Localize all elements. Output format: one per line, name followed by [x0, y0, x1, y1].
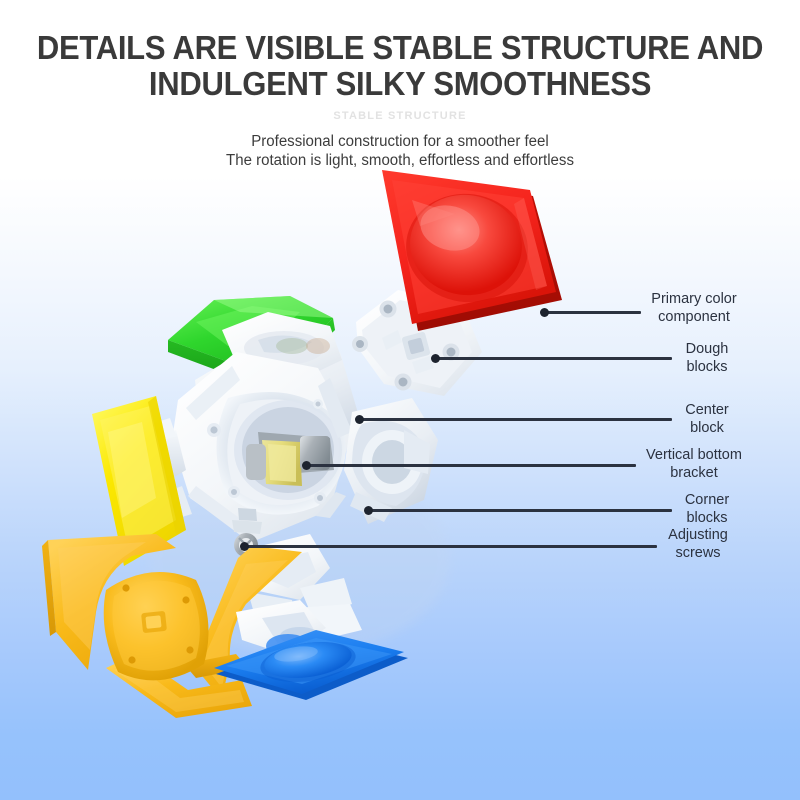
callout-line-2: bracket — [670, 465, 718, 481]
leader-line-corner-blocks — [367, 509, 672, 512]
callout-primary-color-component: Primary color component — [644, 291, 744, 326]
callout-line-1: Dough — [686, 341, 729, 357]
callout-line-1: Corner — [685, 492, 729, 508]
callout-annotations: Primary color component Dough blocks Cen… — [0, 0, 800, 800]
leader-line-adjusting-screws — [243, 545, 657, 548]
callout-line-2: blocks — [686, 359, 727, 375]
callout-line-1: Vertical bottom — [646, 447, 742, 463]
leader-line-dough-blocks — [434, 357, 672, 360]
leader-line-center-block — [358, 418, 672, 421]
callout-vertical-bottom-bracket: Vertical bottom bracket — [638, 447, 750, 482]
anchor-dot — [431, 354, 440, 363]
callout-line-1: Adjusting — [668, 527, 728, 543]
callout-line-2: blocks — [686, 510, 727, 526]
anchor-dot — [540, 308, 549, 317]
leader-line-primary-color — [543, 311, 641, 314]
callout-center-block: Center block — [663, 402, 751, 437]
callout-line-2: screws — [675, 545, 720, 561]
anchor-dot — [364, 506, 373, 515]
callout-line-1: Primary color — [651, 291, 736, 307]
callout-dough-blocks: Dough blocks — [663, 341, 751, 376]
callout-adjusting-screws: Adjusting screws — [648, 527, 748, 562]
anchor-dot — [355, 415, 364, 424]
callout-line-2: block — [690, 420, 724, 436]
callout-line-1: Center — [685, 402, 729, 418]
callout-line-2: component — [658, 309, 730, 325]
anchor-dot — [302, 461, 311, 470]
leader-line-vertical-bottom-bracket — [305, 464, 636, 467]
anchor-dot — [240, 542, 249, 551]
callout-corner-blocks: Corner blocks — [663, 492, 751, 527]
